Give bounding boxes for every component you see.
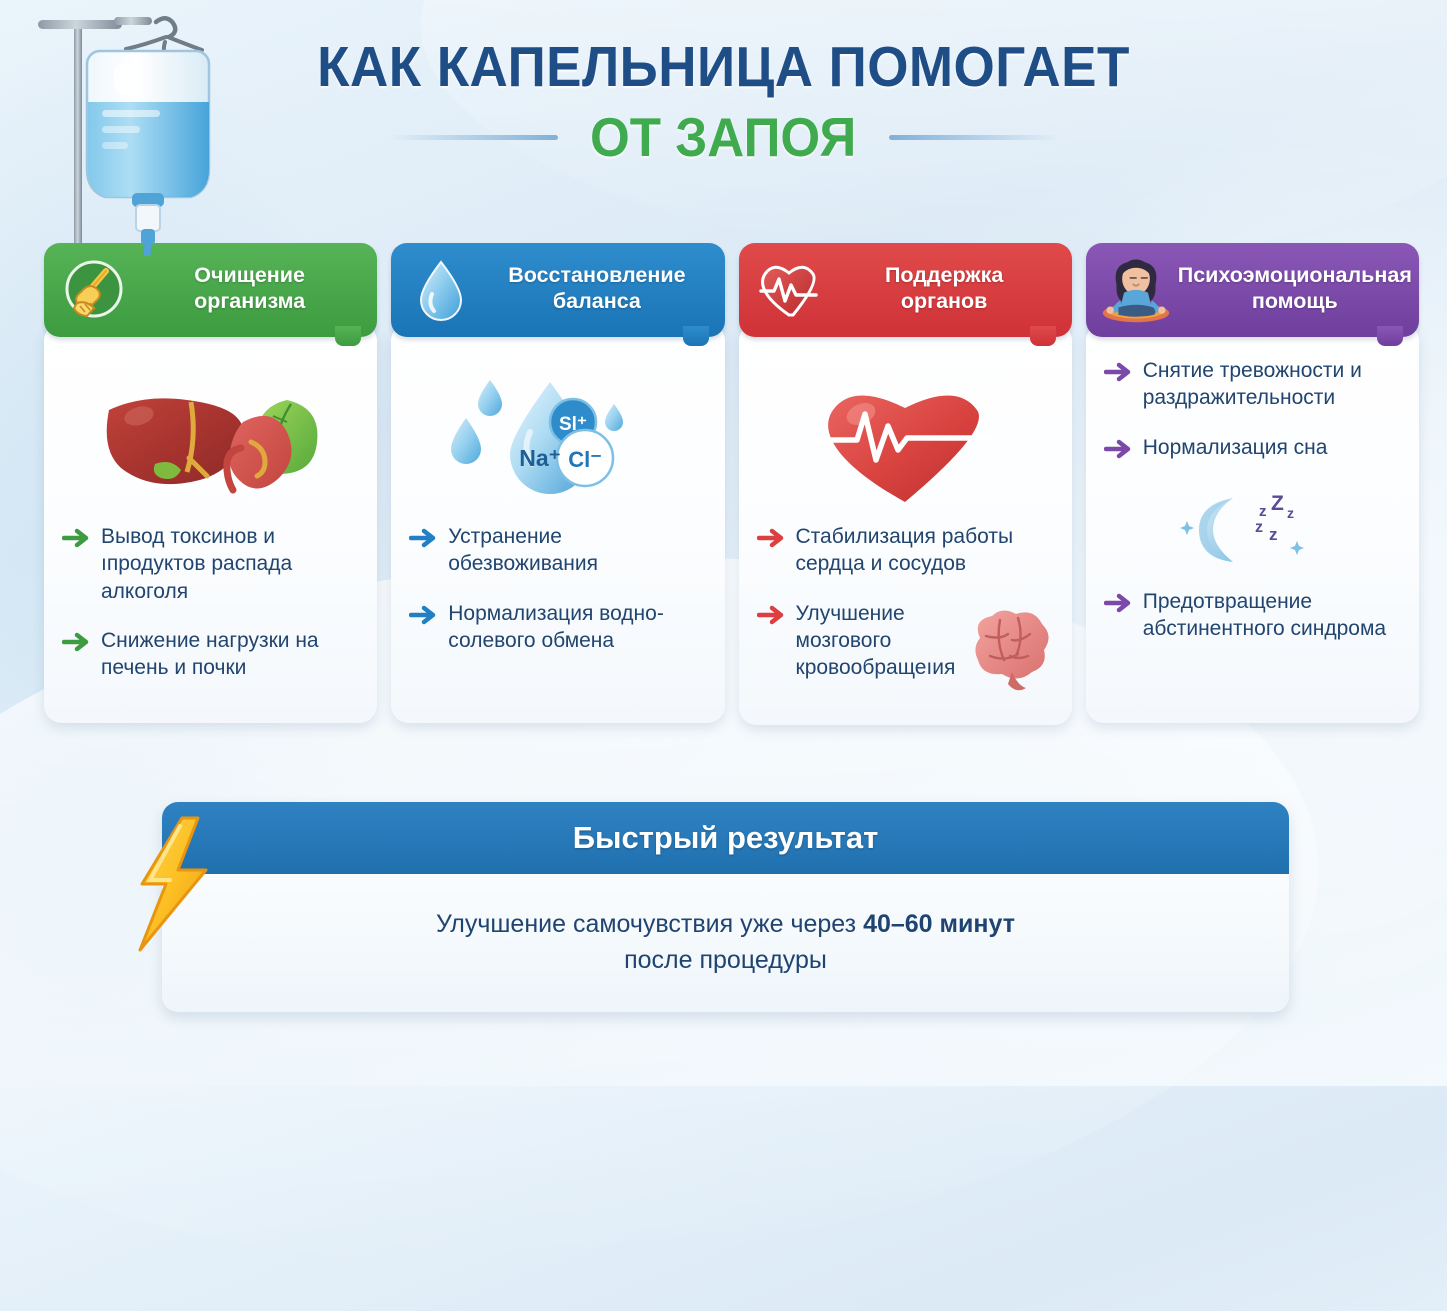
list-item: Предотвращение абстинентного синдрома bbox=[1104, 588, 1401, 643]
arrow-icon bbox=[409, 528, 437, 553]
list-item: Стабилизация работы сердца и сосудов bbox=[757, 523, 1054, 578]
card-cleansing[interactable]: Очищениеорганизма bbox=[44, 243, 377, 725]
arrow-icon bbox=[1104, 362, 1132, 387]
card-psycho-header: Психоэмоциональнаяпомощь bbox=[1086, 243, 1419, 337]
card-organs-bullets: Стабилизация работы сердца и сосудов Улу… bbox=[757, 523, 1054, 699]
card-balance[interactable]: Восстановлениебаланса bbox=[391, 243, 724, 725]
card-balance-bullets: Устранение обезвоживания Нормализация во… bbox=[409, 523, 706, 654]
title-subtitle: ОТ ЗАПОЯ bbox=[590, 110, 856, 165]
ion-label-na: Na⁺ bbox=[519, 445, 561, 471]
card-balance-title: Восстановлениебаланса bbox=[483, 263, 710, 315]
list-item-label: Нормализация водно-солевого обмена bbox=[448, 600, 706, 655]
card-psycho-body: Снятие тревожности и раздражительности Н… bbox=[1086, 323, 1419, 723]
card-balance-body: Sl⁺ Cl⁻ Na⁺ Устранение обезвоживания bbox=[391, 323, 724, 723]
liver-kidney-leaf-illustration bbox=[62, 369, 359, 519]
title-main: КАК КАПЕЛЬНИЦА ПОМОГАЕТ bbox=[51, 38, 1397, 96]
meditating-woman-icon bbox=[1100, 253, 1172, 325]
arrow-icon bbox=[62, 632, 90, 657]
card-balance-header: Восстановлениебаланса bbox=[391, 243, 724, 337]
water-drop-icon bbox=[405, 253, 477, 325]
title-rule-right bbox=[889, 135, 1059, 140]
lightning-bolt-icon bbox=[128, 814, 216, 959]
fast-result-line-2: после процедуры bbox=[202, 942, 1249, 978]
svg-text:z: z bbox=[1269, 525, 1278, 544]
arrow-icon bbox=[757, 528, 785, 553]
fast-result-line-1: Улучшение самочувствия уже через 40–60 м… bbox=[202, 908, 1249, 942]
arrow-icon bbox=[757, 605, 785, 630]
heart-pulse-icon bbox=[753, 253, 825, 325]
fast-result-banner: Быстрый результат Улучшение самочувствия… bbox=[162, 802, 1289, 1012]
list-item: Снятие тревожности и раздражительности bbox=[1104, 357, 1401, 412]
arrow-icon bbox=[1104, 439, 1132, 464]
list-item-label: Снижение нагрузки на печень и почки bbox=[101, 627, 359, 682]
fast-result-heading: Быстрый результат bbox=[573, 820, 879, 856]
list-item: Нормализация водно-солевого обмена bbox=[409, 600, 706, 655]
svg-text:z: z bbox=[1287, 505, 1294, 521]
arrow-icon bbox=[409, 605, 437, 630]
svg-text:z: z bbox=[1255, 519, 1263, 536]
iv-drip-illustration bbox=[28, 6, 233, 261]
moon-zzz-illustration: z Z z z z bbox=[1104, 488, 1401, 570]
card-psycho-title: Психоэмоциональнаяпомощь bbox=[1178, 263, 1412, 315]
arrow-icon bbox=[1104, 593, 1132, 618]
fast-result-banner-body: Улучшение самочувствия уже через 40–60 м… bbox=[162, 874, 1289, 1012]
card-cleansing-body: Вывод токсинов и ıпродуктов распада алко… bbox=[44, 323, 377, 723]
water-drops-electrolytes-illustration: Sl⁺ Cl⁻ Na⁺ bbox=[409, 369, 706, 519]
list-item-label: Нормализация сна bbox=[1143, 434, 1328, 461]
list-item-label: Улучшение мозгового кровообращеıия bbox=[796, 600, 956, 682]
list-item: Нормализация сна bbox=[1104, 434, 1401, 464]
heart-ecg-illustration bbox=[757, 369, 1054, 519]
title-rule-left bbox=[388, 135, 558, 140]
card-psycho-bullets: Снятие тревожности и раздражительности Н… bbox=[1104, 357, 1401, 642]
card-organs-header: Поддержкаорганов bbox=[739, 243, 1072, 337]
list-item: Вывод токсинов и ıпродуктов распада алко… bbox=[62, 523, 359, 605]
list-item-label: Предотвращение абстинентного синдрома bbox=[1143, 588, 1401, 643]
list-item-label: Снятие тревожности и раздражительности bbox=[1143, 357, 1401, 412]
fast-result-highlight: 40–60 минут bbox=[863, 910, 1015, 938]
card-cleansing-title: Очищениеорганизма bbox=[136, 263, 363, 315]
svg-text:z: z bbox=[1259, 503, 1267, 520]
card-psycho[interactable]: Психоэмоциональнаяпомощь Снятие тревожно… bbox=[1086, 243, 1419, 725]
fast-result-text-before: Улучшение самочувствия уже через bbox=[436, 910, 863, 938]
svg-text:Z: Z bbox=[1271, 492, 1284, 515]
fast-result-banner-header: Быстрый результат bbox=[162, 802, 1289, 874]
list-item-label: Устранение обезвоживания bbox=[448, 523, 706, 578]
list-item: Снижение нагрузки на печень и почки bbox=[62, 627, 359, 682]
broom-icon bbox=[58, 253, 130, 325]
list-item: Улучшение мозгового кровообращеıия bbox=[757, 600, 1054, 699]
ion-label-cl: Cl⁻ bbox=[568, 447, 602, 472]
benefit-cards-row: Очищениеорганизма bbox=[44, 243, 1419, 725]
list-item-label: Стабилизация работы сердца и сосудов bbox=[796, 523, 1054, 578]
card-organs-title: Поддержкаорганов bbox=[831, 263, 1058, 315]
card-organs-body: Стабилизация работы сердца и сосудов Улу… bbox=[739, 323, 1072, 725]
list-item-label: Вывод токсинов и ıпродуктов распада алко… bbox=[101, 523, 359, 605]
card-organs[interactable]: Поддержкаорганов Стаби bbox=[739, 243, 1072, 725]
card-cleansing-bullets: Вывод токсинов и ıпродуктов распада алко… bbox=[62, 523, 359, 681]
list-item: Устранение обезвоживания bbox=[409, 523, 706, 578]
arrow-icon bbox=[62, 528, 90, 553]
brain-illustration bbox=[960, 608, 1056, 699]
